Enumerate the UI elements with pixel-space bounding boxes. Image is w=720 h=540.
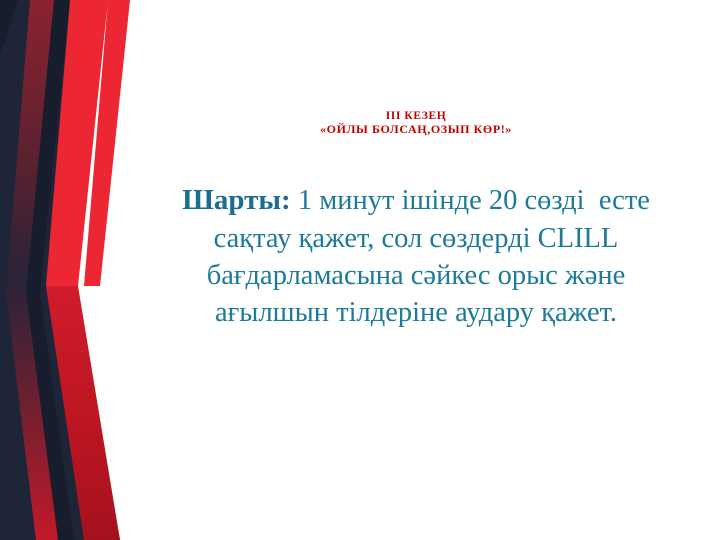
slide-body: Шарты: 1 минут ішінде 20 сөзді есте сақт…: [116, 182, 716, 331]
title-line-2: «ОЙЛЫ БОЛСАҢ,ОЗЫП КӨР!»: [112, 123, 720, 136]
presentation-slide: III КЕЗЕҢ «ОЙЛЫ БОЛСАҢ,ОЗЫП КӨР!» Шарты:…: [0, 0, 720, 540]
body-line-4: ағылшын тілдеріне аудару қажет.: [116, 294, 716, 331]
body-lead-label: Шарты:: [182, 184, 291, 216]
body-line-3: бағдарламасына сәйкес орыс және: [116, 257, 716, 294]
body-line-1: Шарты: 1 минут ішінде 20 сөзді есте: [116, 182, 716, 220]
body-line-1-text: 1 минут ішінде 20 сөзді есте: [291, 185, 650, 216]
body-line-2: сақтау қажет, сол сөздерді CLILL: [116, 220, 716, 257]
title-line-1: III КЕЗЕҢ: [112, 110, 720, 123]
slide-title: III КЕЗЕҢ «ОЙЛЫ БОЛСАҢ,ОЗЫП КӨР!»: [112, 110, 720, 136]
slide-content: III КЕЗЕҢ «ОЙЛЫ БОЛСАҢ,ОЗЫП КӨР!» Шарты:…: [112, 0, 720, 540]
